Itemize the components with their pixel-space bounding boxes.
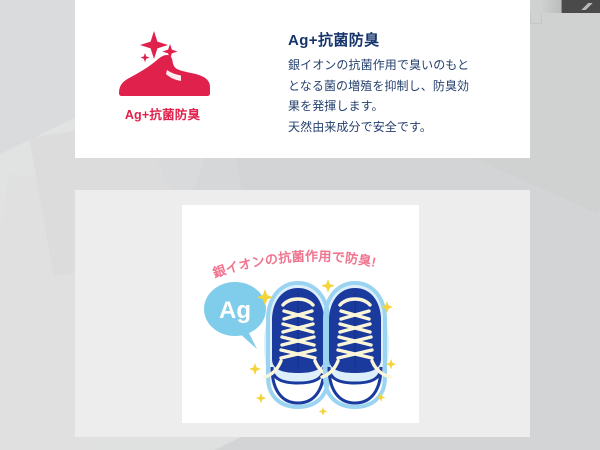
page-stage: Ag+抗菌防臭 Ag+抗菌防臭 銀イオンの抗菌作用で臭いのもと となる菌の増殖を… (0, 0, 600, 450)
body-line: 天然由来成分で安全です。 (288, 117, 518, 138)
tab-stripe-icon (579, 3, 595, 10)
browser-tab-stub[interactable] (561, 0, 600, 13)
logo-caption: Ag+抗菌防臭 (103, 104, 223, 123)
logo-pane: Ag+抗菌防臭 (75, 0, 250, 158)
ag-speech-bubble: Ag (204, 282, 266, 349)
tab-stub-shadow (540, 0, 562, 13)
sparkle-shoe-icon: Ag+抗菌防臭 (103, 29, 223, 129)
body-line: 果を発揮します。 (288, 96, 518, 117)
sneakers-artwork: Ag (182, 267, 419, 417)
feature-card: Ag+抗菌防臭 Ag+抗菌防臭 銀イオンの抗菌作用で臭いのもと となる菌の増殖を… (75, 0, 530, 158)
illustration-panel: 銀イオンの抗菌作用で防臭! Ag (75, 190, 530, 437)
feature-body: 銀イオンの抗菌作用で臭いのもと となる菌の増殖を抑制し、防臭効 果を発揮します。… (288, 55, 518, 138)
svg-text:Ag: Ag (219, 297, 251, 324)
body-line: 銀イオンの抗菌作用で臭いのもと (288, 55, 518, 76)
body-line: となる菌の増殖を抑制し、防臭効 (288, 76, 518, 97)
copy-pane: Ag+抗菌防臭 銀イオンの抗菌作用で臭いのもと となる菌の増殖を抑制し、防臭効 … (288, 0, 530, 158)
illustration-image-box: 銀イオンの抗菌作用で防臭! Ag (182, 205, 419, 423)
tab-corner-nub (530, 14, 542, 24)
feature-title: Ag+抗菌防臭 (288, 29, 380, 50)
